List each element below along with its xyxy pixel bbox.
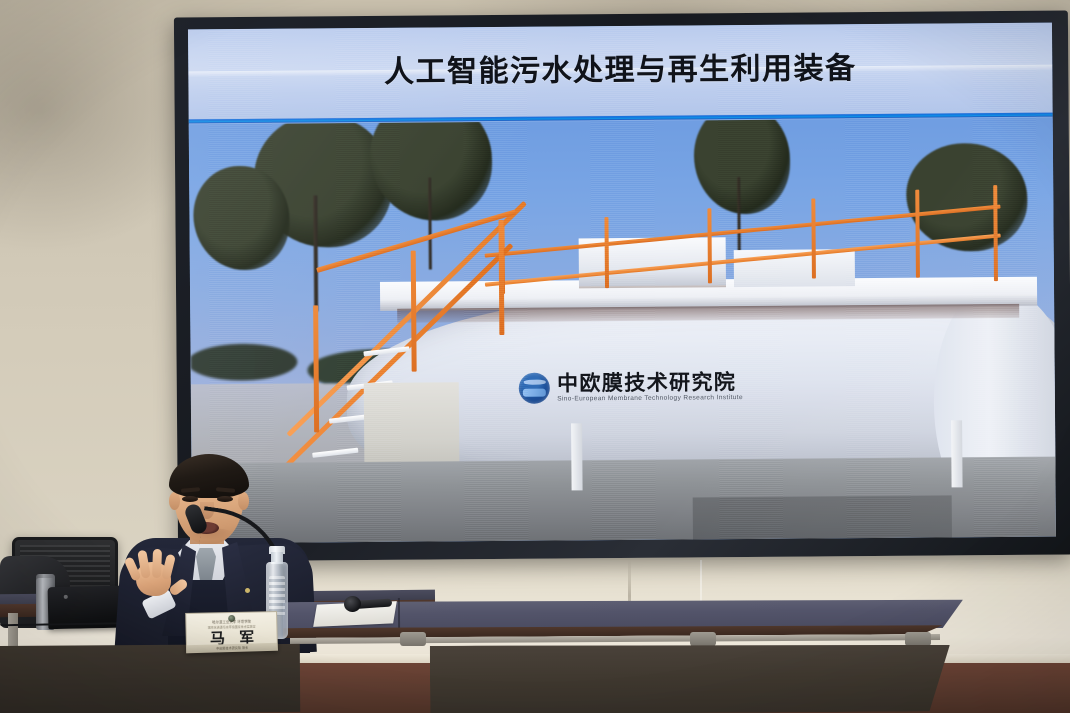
nameplate-org-line-1: 哈尔滨工业大学 环境学院 [212, 618, 251, 624]
finger [161, 554, 176, 580]
deck-railing-post [993, 185, 998, 281]
room-scene: 人工智能污水处理与再生利用装备 [0, 0, 1070, 713]
table-bracket [905, 632, 931, 646]
tank-branding: 中欧膜技术研究院 Sino-European Membrane Technolo… [519, 371, 743, 404]
slide-photo: 中欧膜技术研究院 Sino-European Membrane Technolo… [189, 117, 1056, 543]
tank-support-leg [951, 420, 963, 487]
table-modesty-panel [430, 642, 950, 713]
deck-railing-post [604, 217, 609, 288]
nameplate-footer: 中欧膜技术研究院 院长 [187, 643, 277, 652]
ground-shadow [693, 495, 953, 539]
stair-post [313, 306, 319, 433]
institute-name-chinese: 中欧膜技术研究院 [557, 372, 743, 394]
eye-right [217, 496, 233, 502]
table-modesty-panel [0, 644, 300, 713]
deck-railing-post [811, 199, 816, 279]
tank-support-leg [571, 423, 583, 490]
eye-left [182, 496, 198, 502]
deck-railing-post [915, 190, 920, 278]
institute-name-english: Sino-European Membrane Technology Resear… [557, 395, 743, 403]
laptop-logo-icon [64, 595, 68, 599]
table-seam [398, 598, 400, 628]
nameplate: 哈尔滨工业大学 环境学院 城市水资源与水环境国家重点实验室 马 军 中欧膜技术研… [185, 611, 278, 653]
ear-right [238, 492, 249, 510]
ear-left [169, 492, 180, 510]
nameplate-footer-text: 中欧膜技术研究院 院长 [216, 645, 248, 650]
presentation-slide: 人工智能污水处理与再生利用装备 [188, 23, 1056, 544]
table-bracket [400, 632, 426, 646]
screen-panel: 人工智能污水处理与再生利用装备 [188, 23, 1056, 544]
institute-logo-icon [519, 373, 550, 404]
table-bracket [690, 632, 716, 646]
slide-header-band: 人工智能污水处理与再生利用装备 [188, 23, 1053, 120]
finger [152, 549, 162, 578]
stair-post [499, 220, 505, 335]
nameplate-org-line-2: 城市水资源与水环境国家重点实验室 [208, 624, 256, 629]
stair-post [411, 251, 417, 372]
slide-title: 人工智能污水处理与再生利用装备 [384, 54, 857, 88]
raised-hand [130, 546, 176, 598]
nameplate-face: 哈尔滨工业大学 环境学院 城市水资源与水环境国家重点实验室 马 军 中欧膜技术研… [185, 611, 278, 653]
